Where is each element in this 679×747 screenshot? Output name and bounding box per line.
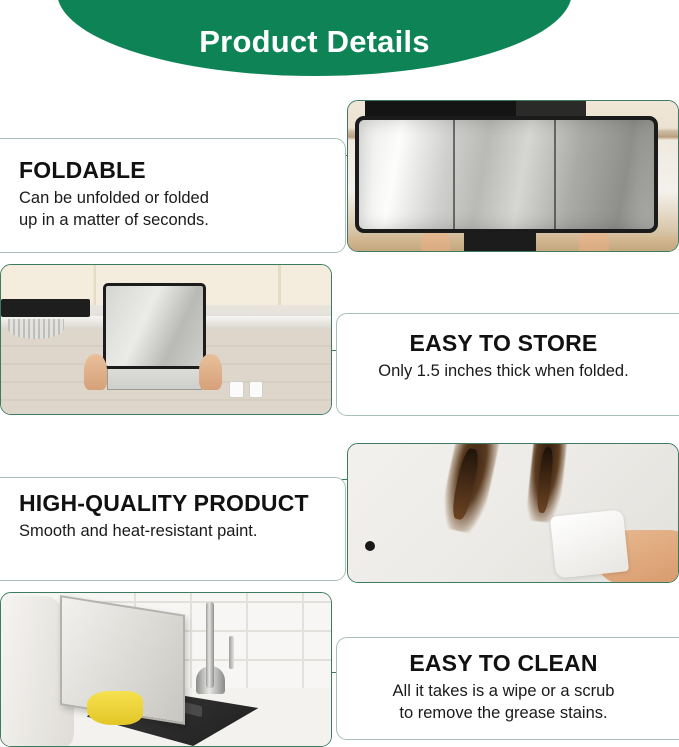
faucet-handle bbox=[229, 636, 234, 670]
feature-photo-foldable bbox=[347, 100, 679, 252]
feature-description-foldable: Can be unfolded or folded up in a matter… bbox=[19, 188, 329, 230]
feature-card-foldable: FOLDABLE Can be unfolded or folded up in… bbox=[0, 138, 346, 253]
page-title: Product Details bbox=[57, 24, 572, 60]
range-hood bbox=[1, 299, 90, 317]
photo-clean-scene bbox=[1, 593, 331, 746]
feature-card-high-quality-product: HIGH-QUALITY PRODUCT Smooth and heat-res… bbox=[0, 477, 346, 581]
wall-outlet bbox=[229, 381, 244, 397]
feature-photo-high-quality-product bbox=[347, 443, 679, 583]
folded-splatter-guard bbox=[103, 283, 205, 369]
feature-description-easy-to-clean: All it takes is a wipe or a scrub to rem… bbox=[349, 681, 658, 723]
product-details-infographic: Product Details FOLDABLE Can be unfolded… bbox=[0, 0, 679, 747]
panel-hanging-hole bbox=[365, 541, 375, 551]
feature-photo-easy-to-store bbox=[0, 264, 332, 415]
photo-quality-scene bbox=[348, 444, 678, 582]
feature-title-easy-to-clean: EASY TO CLEAN bbox=[349, 650, 658, 676]
feature-photo-easy-to-clean bbox=[0, 592, 332, 747]
wall-outlet bbox=[249, 381, 264, 397]
hand-left bbox=[84, 354, 107, 390]
feature-title-foldable: FOLDABLE bbox=[19, 157, 329, 183]
feature-card-easy-to-clean: EASY TO CLEAN All it takes is a wipe or … bbox=[336, 637, 679, 740]
photo-store-scene bbox=[1, 265, 331, 414]
feature-card-easy-to-store: EASY TO STORE Only 1.5 inches thick when… bbox=[336, 313, 679, 416]
feature-description-high-quality-product: Smooth and heat-resistant paint. bbox=[19, 521, 335, 542]
cleaning-cloth bbox=[550, 509, 629, 578]
panel-fold-seam bbox=[554, 120, 556, 229]
faucet-spout bbox=[206, 602, 215, 688]
feature-title-easy-to-store: EASY TO STORE bbox=[349, 330, 658, 356]
panel-fold-seam bbox=[453, 120, 455, 229]
feature-description-easy-to-store: Only 1.5 inches thick when folded. bbox=[349, 361, 658, 382]
yellow-glove bbox=[87, 691, 143, 725]
hand-right bbox=[199, 354, 222, 390]
stove-body bbox=[464, 232, 537, 252]
splatter-guard-panel bbox=[355, 116, 659, 233]
photo-foldable-scene bbox=[348, 101, 678, 251]
header-banner: Product Details bbox=[57, 0, 572, 76]
feature-title-high-quality-product: HIGH-QUALITY PRODUCT bbox=[19, 490, 335, 516]
hand-right bbox=[579, 230, 609, 252]
hand-left bbox=[421, 230, 451, 252]
